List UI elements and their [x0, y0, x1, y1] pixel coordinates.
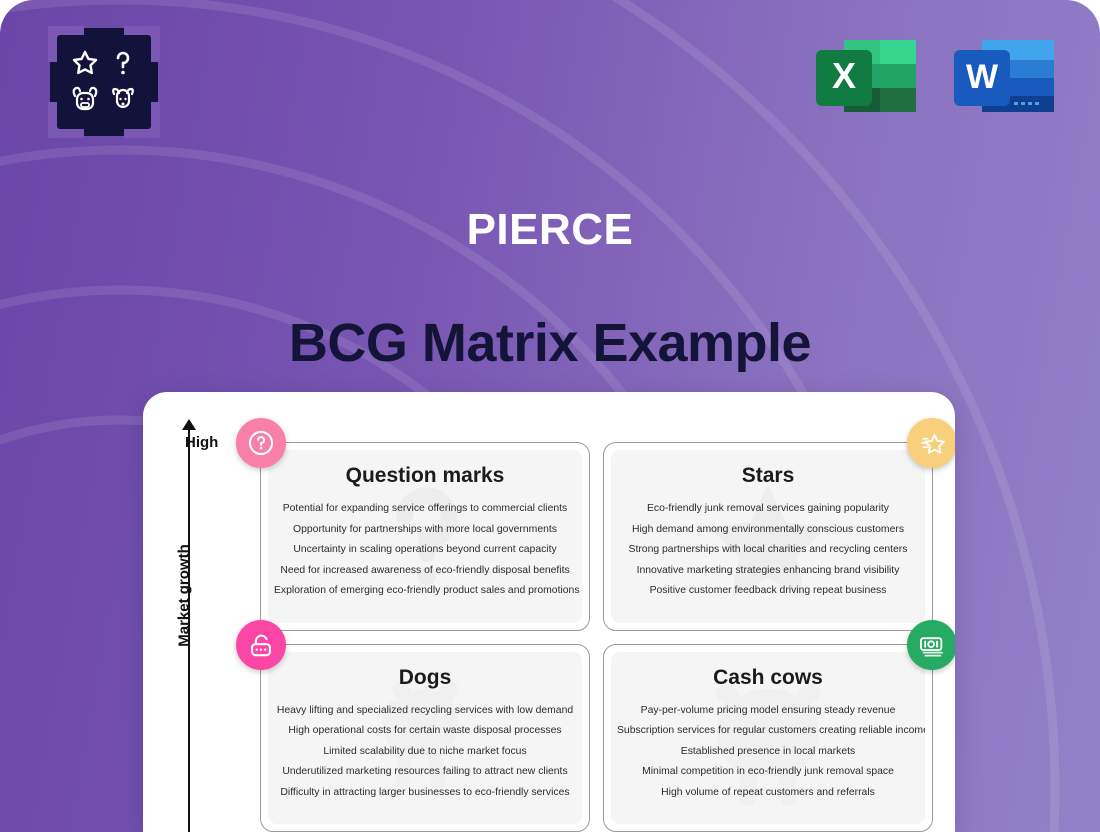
list-item: Minimal competition in eco-friendly junk…: [611, 762, 925, 783]
list-item: Need for increased awareness of eco-frie…: [268, 561, 582, 582]
office-app-icons: X W: [812, 28, 1058, 124]
quadrant-stars[interactable]: Stars Eco-friendly junk removal services…: [603, 442, 933, 631]
star-icon: [907, 418, 955, 468]
quadrant-dogs[interactable]: Dogs Heavy lifting and specialized recyc…: [260, 644, 590, 832]
quadrant-title: Dogs: [399, 666, 452, 690]
list-item: Opportunity for partnerships with more l…: [268, 520, 582, 541]
word-icon[interactable]: W: [950, 28, 1058, 124]
brand-name: PIERCE: [0, 208, 1100, 252]
list-item: Eco-friendly junk removal services gaini…: [611, 499, 925, 520]
list-item: Difficulty in attracting larger business…: [268, 783, 582, 804]
list-item: Exploration of emerging eco-friendly pro…: [268, 581, 582, 602]
list-item: High demand among environmentally consci…: [611, 520, 925, 541]
question-mark-icon: [236, 418, 286, 468]
banknotes-icon: [907, 620, 955, 670]
padlock-icon: [236, 620, 286, 670]
y-axis-high-label: High: [185, 434, 218, 451]
list-item: Underutilized marketing resources failin…: [268, 762, 582, 783]
quadrant-item-list: Eco-friendly junk removal services gaini…: [611, 499, 925, 602]
excel-icon[interactable]: X: [812, 28, 920, 124]
list-item: Established presence in local markets: [611, 742, 925, 763]
list-item: High operational costs for certain waste…: [268, 721, 582, 742]
list-item: Uncertainty in scaling operations beyond…: [268, 540, 582, 561]
list-item: Potential for expanding service offering…: [268, 499, 582, 520]
list-item: Strong partnerships with local charities…: [611, 540, 925, 561]
list-item: Heavy lifting and specialized recycling …: [268, 701, 582, 722]
quadrant-body: Stars Eco-friendly junk removal services…: [611, 450, 925, 623]
quadrant-body: Dogs Heavy lifting and specialized recyc…: [268, 652, 582, 825]
list-item: Innovative marketing strategies enhancin…: [611, 561, 925, 582]
quadrant-cash-cows[interactable]: Cash cows Pay-per-volume pricing model e…: [603, 644, 933, 832]
quadrant-title: Stars: [742, 464, 795, 488]
list-item: Pay-per-volume pricing model ensuring st…: [611, 701, 925, 722]
quadrant-body: Cash cows Pay-per-volume pricing model e…: [611, 652, 925, 825]
bcg-matrix-logo-icon: [48, 26, 160, 138]
matrix-card: High Market growth Question m: [143, 392, 955, 832]
quadrant-question-marks[interactable]: Question marks Potential for expanding s…: [260, 442, 590, 631]
y-axis-title: Market growth: [176, 536, 193, 656]
quadrant-title: Cash cows: [713, 666, 823, 690]
quadrant-body: Question marks Potential for expanding s…: [268, 450, 582, 623]
bcg-matrix-grid: Question marks Potential for expanding s…: [260, 442, 933, 832]
list-item: Positive customer feedback driving repea…: [611, 581, 925, 602]
svg-text:X: X: [832, 55, 856, 96]
list-item: Subscription services for regular custom…: [611, 721, 925, 742]
list-item: High volume of repeat customers and refe…: [611, 783, 925, 804]
quadrant-title: Question marks: [346, 464, 505, 488]
quadrant-item-list: Heavy lifting and specialized recycling …: [268, 701, 582, 804]
page-title: BCG Matrix Example: [0, 314, 1100, 373]
quadrant-item-list: Pay-per-volume pricing model ensuring st…: [611, 701, 925, 804]
slide-canvas: X W PIERCE BCG Matrix Example: [0, 0, 1100, 832]
svg-text:W: W: [966, 58, 999, 96]
list-item: Limited scalability due to niche market …: [268, 742, 582, 763]
quadrant-item-list: Potential for expanding service offering…: [268, 499, 582, 602]
